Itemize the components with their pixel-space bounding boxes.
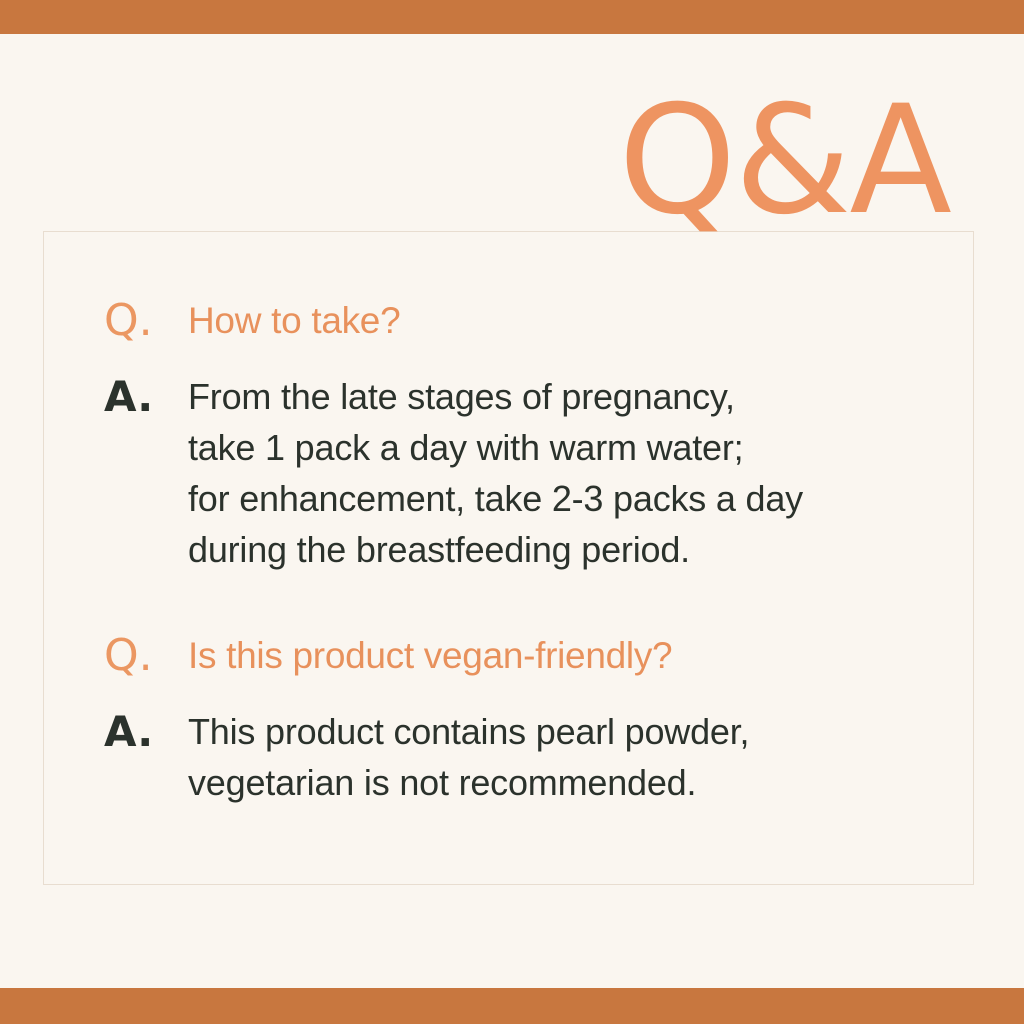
question-row: Q. How to take?: [104, 296, 944, 346]
qa-item-2: Q. Is this product vegan-friendly? A. Th…: [104, 631, 944, 808]
page-title: Q&A: [618, 86, 950, 236]
qa-list: Q. How to take? A. From the late stages …: [104, 296, 944, 808]
answer-row: A. From the late stages of pregnancy, ta…: [104, 371, 944, 575]
answer-text: This product contains pearl powder, vege…: [188, 706, 749, 808]
answer-text: From the late stages of pregnancy, take …: [188, 371, 803, 575]
bottom-accent-bar: [0, 988, 1024, 1024]
answer-row: A. This product contains pearl powder, v…: [104, 706, 944, 808]
question-marker: Q.: [104, 631, 188, 681]
answer-marker: A.: [104, 371, 188, 423]
qa-item-1: Q. How to take? A. From the late stages …: [104, 296, 944, 575]
question-row: Q. Is this product vegan-friendly?: [104, 631, 944, 681]
question-marker: Q.: [104, 296, 188, 346]
question-text: Is this product vegan-friendly?: [188, 631, 672, 681]
top-accent-bar: [0, 0, 1024, 34]
question-text: How to take?: [188, 296, 400, 346]
answer-marker: A.: [104, 706, 188, 758]
qa-poster: Q&A Q. How to take? A. From the late sta…: [0, 0, 1024, 1024]
